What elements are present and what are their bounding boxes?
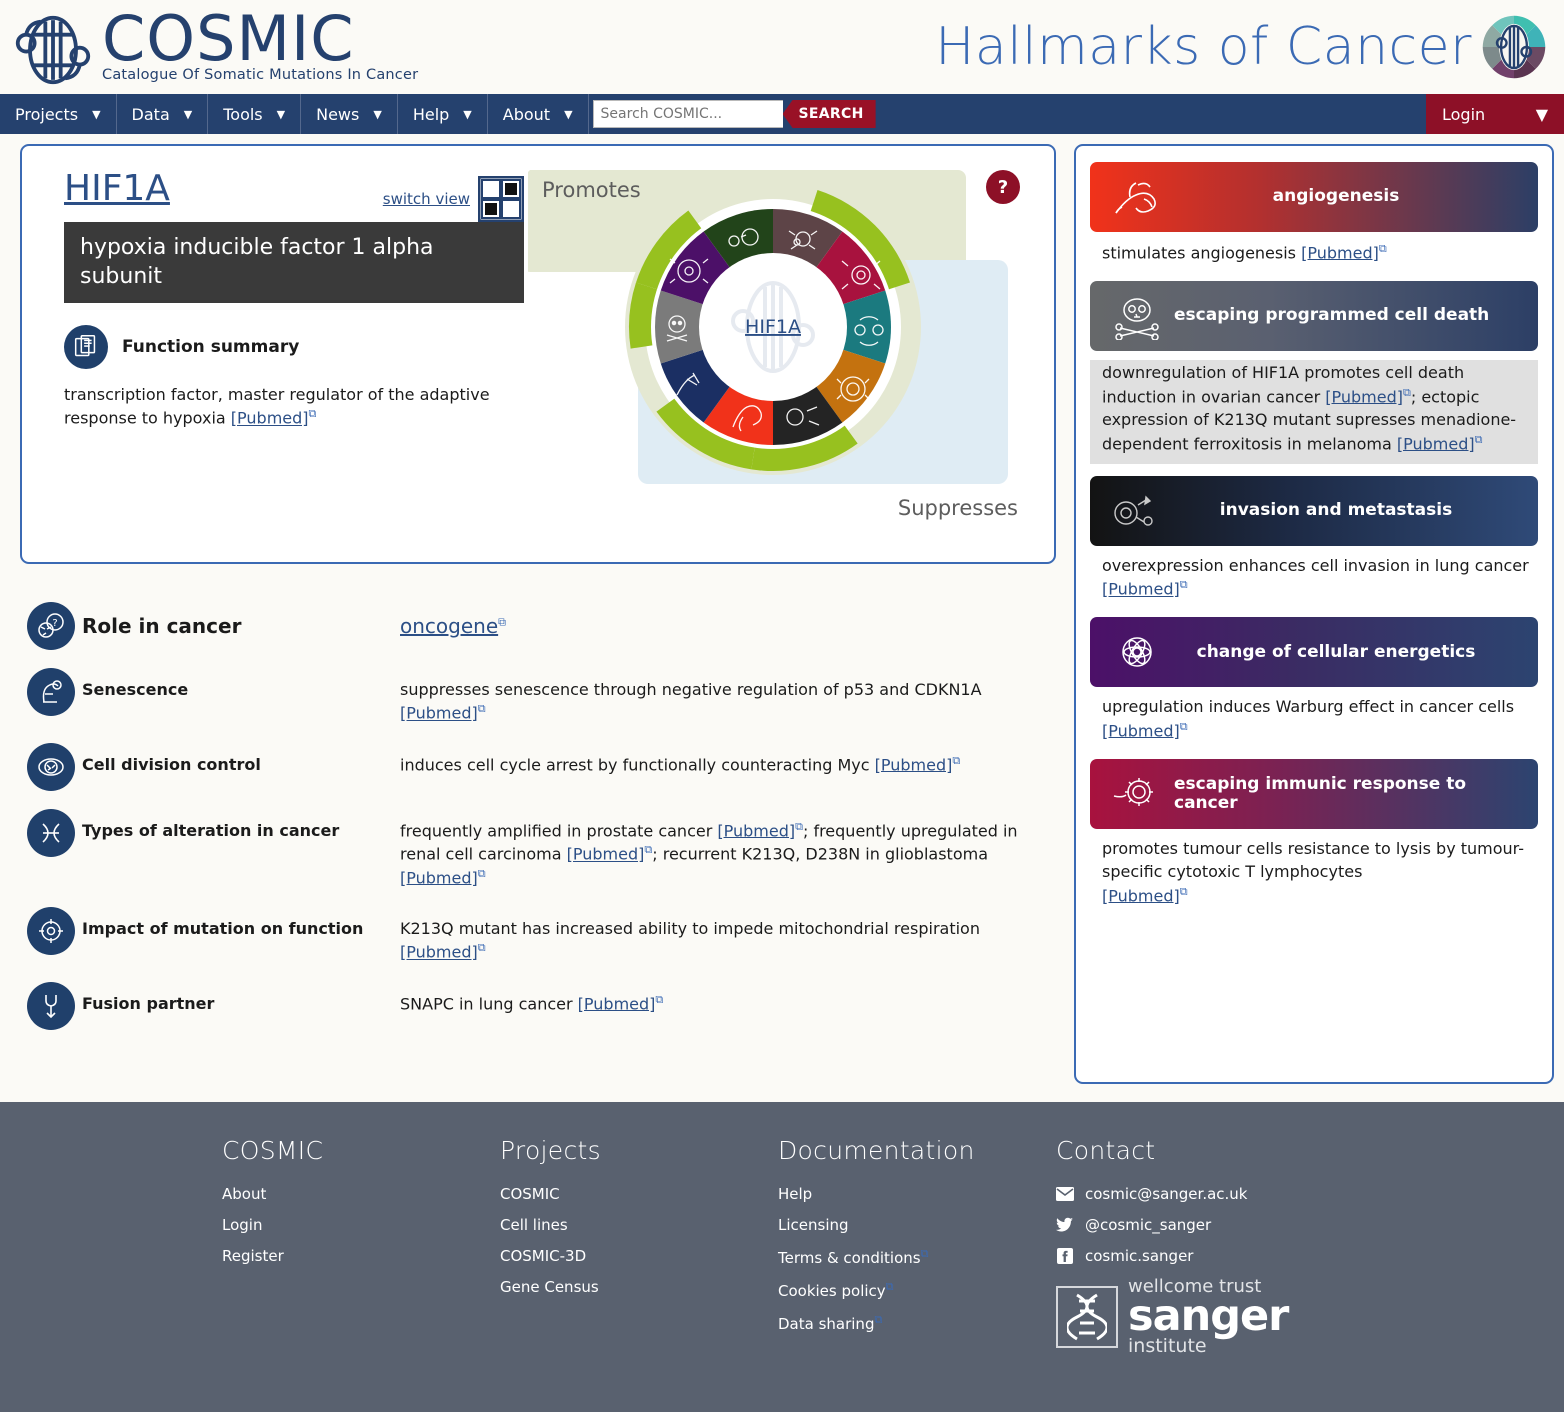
external-link-icon: ⧉ bbox=[952, 754, 960, 767]
role-value-link[interactable]: oncogene bbox=[400, 614, 498, 638]
page-body: HIF1A switch view bbox=[0, 134, 1564, 1084]
pubmed-link[interactable]: [Pubmed] bbox=[1397, 434, 1475, 453]
external-link-icon: ⧉ bbox=[1475, 433, 1483, 446]
external-link-icon: ⧉ bbox=[1180, 720, 1188, 733]
icon-cell bbox=[20, 666, 82, 716]
footer-link-register[interactable]: Register bbox=[222, 1247, 500, 1265]
brand-name: COSMIC bbox=[102, 8, 418, 70]
attribute-text: SNAPC in lung cancer bbox=[400, 994, 573, 1013]
left-column: HIF1A switch view bbox=[20, 144, 1056, 1084]
attribute-text: suppresses senescence through negative r… bbox=[400, 680, 982, 699]
contact-email-label: cosmic@sanger.ac.uk bbox=[1085, 1185, 1248, 1203]
footer-link-gene-census[interactable]: Gene Census bbox=[500, 1278, 778, 1296]
attribute-row-impact-of-mutation: Impact of mutation on function K213Q mut… bbox=[20, 905, 1056, 964]
external-link-icon: ⧉ bbox=[655, 993, 663, 1006]
external-link-icon: ⧉ bbox=[1180, 885, 1188, 898]
external-link-icon: ⧉ bbox=[921, 1247, 929, 1260]
facebook-icon bbox=[1056, 1248, 1074, 1264]
gene-info-block: HIF1A switch view bbox=[44, 164, 524, 430]
external-link-icon: ⧉ bbox=[1180, 578, 1188, 591]
footer-heading: Contact bbox=[1056, 1136, 1456, 1165]
contact-facebook-label: cosmic.sanger bbox=[1085, 1247, 1193, 1265]
wheel-segments: HIF1A bbox=[655, 209, 891, 445]
footer-link-cosmic[interactable]: COSMIC bbox=[500, 1185, 778, 1203]
icon-cell: ? bbox=[20, 600, 82, 650]
pubmed-link[interactable]: [Pubmed] bbox=[578, 994, 656, 1013]
external-link-icon: ⧉ bbox=[795, 820, 803, 833]
gene-symbol-link[interactable]: HIF1A bbox=[64, 168, 170, 209]
pubmed-link[interactable]: [Pubmed] bbox=[1102, 721, 1180, 740]
sanger-institute-logo: wellcome trust sanger institute bbox=[1056, 1278, 1456, 1356]
external-link-icon: ⧉ bbox=[886, 1280, 894, 1293]
switch-view-label[interactable]: switch view bbox=[383, 190, 470, 208]
external-link-icon: ⧉ bbox=[309, 407, 317, 420]
hallmark-name: invasion and metastasis bbox=[1174, 501, 1528, 521]
footer-heading: Projects bbox=[500, 1136, 778, 1165]
hallmark-description-escaping-programmed-cell-death: downregulation of HIF1A promotes cell de… bbox=[1090, 360, 1538, 464]
contact-twitter-label: @cosmic_sanger bbox=[1085, 1216, 1211, 1234]
wheel-center-label: HIF1A bbox=[745, 316, 801, 338]
gene-attributes: ? Role in cancer oncogene⧉ bbox=[20, 600, 1056, 1030]
icon-cell bbox=[20, 807, 82, 857]
pubmed-link[interactable]: [Pubmed] bbox=[875, 755, 953, 774]
pubmed-link[interactable]: [Pubmed] bbox=[717, 821, 795, 840]
attribute-row-senescence: Senescence suppresses senescence through… bbox=[20, 666, 1056, 725]
grid-view-icon[interactable] bbox=[478, 176, 524, 222]
attribute-text: induces cell cycle arrest by functionall… bbox=[400, 755, 870, 774]
chevron-down-icon: ▼ bbox=[92, 109, 100, 120]
external-link-icon: ⧉ bbox=[478, 702, 486, 715]
attribute-label: Fusion partner bbox=[82, 980, 400, 1013]
footer-column-cosmic: COSMIC About Login Register bbox=[222, 1136, 500, 1356]
alteration-icon bbox=[27, 809, 75, 857]
page-footer: COSMIC About Login Register Projects COS… bbox=[0, 1102, 1564, 1412]
chevron-down-icon: ▼ bbox=[564, 109, 572, 120]
chevron-down-icon: ▼ bbox=[277, 109, 285, 120]
search-area: SEARCH bbox=[593, 94, 876, 134]
impact-icon bbox=[27, 907, 75, 955]
nav-item-data[interactable]: Data ▼ bbox=[117, 94, 209, 134]
external-link-icon: ⧉ bbox=[874, 1313, 882, 1326]
pubmed-link[interactable]: [Pubmed] bbox=[231, 409, 309, 428]
right-column: angiogenesis stimulates angiogenesis [Pu… bbox=[1074, 144, 1554, 1084]
external-link-icon: ⧉ bbox=[1403, 386, 1411, 399]
hallmark-header-escaping-immunic-response[interactable]: escaping immunic response to cancer bbox=[1090, 759, 1538, 829]
icon-cell bbox=[20, 980, 82, 1030]
metastasis-icon bbox=[1100, 487, 1174, 535]
search-input[interactable] bbox=[593, 100, 783, 128]
nav-label: Data bbox=[132, 105, 170, 124]
nav-item-news[interactable]: News ▼ bbox=[301, 94, 398, 134]
nav-item-about[interactable]: About ▼ bbox=[488, 94, 589, 134]
attribute-label: Senescence bbox=[82, 666, 400, 699]
chevron-down-icon: ▼ bbox=[373, 109, 381, 120]
hallmark-text: promotes tumour cells resistance to lysi… bbox=[1102, 839, 1524, 881]
attribute-row-cell-division-control: Cell division control induces cell cycle… bbox=[20, 741, 1056, 791]
cell-division-icon bbox=[27, 743, 75, 791]
hallmark-name: angiogenesis bbox=[1174, 187, 1528, 207]
hallmark-name: escaping immunic response to cancer bbox=[1174, 775, 1528, 814]
footer-link-label: Data sharing bbox=[778, 1315, 874, 1333]
footer-link-about[interactable]: About bbox=[222, 1185, 500, 1203]
hallmark-name: escaping programmed cell death bbox=[1174, 306, 1528, 326]
footer-column-contact: Contact cosmic@sanger.ac.uk @cosmic_sang… bbox=[1056, 1136, 1456, 1356]
cosmic-logo-icon bbox=[14, 14, 92, 86]
icon-cell bbox=[20, 905, 82, 955]
footer-link-login[interactable]: Login bbox=[222, 1216, 500, 1234]
icon-cell bbox=[20, 741, 82, 791]
pubmed-link[interactable]: [Pubmed] bbox=[567, 845, 645, 864]
footer-columns: COSMIC About Login Register Projects COS… bbox=[0, 1136, 1564, 1356]
hallmark-text: upregulation induces Warburg effect in c… bbox=[1102, 697, 1514, 716]
skull-icon bbox=[1100, 292, 1174, 340]
sanger-wordmark: wellcome trust sanger institute bbox=[1128, 1278, 1288, 1356]
hallmarks-title: Hallmarks of Cancer bbox=[935, 13, 1554, 81]
pubmed-link[interactable]: [Pubmed] bbox=[1102, 580, 1180, 599]
contact-facebook[interactable]: cosmic.sanger bbox=[1056, 1247, 1456, 1265]
attribute-row-fusion-partner: Fusion partner SNAPC in lung cancer [Pub… bbox=[20, 980, 1056, 1030]
attribute-value: induces cell cycle arrest by functionall… bbox=[400, 741, 1056, 777]
contact-twitter[interactable]: @cosmic_sanger bbox=[1056, 1216, 1456, 1234]
twitter-icon bbox=[1056, 1217, 1074, 1233]
attribute-label: Impact of mutation on function bbox=[82, 905, 400, 938]
attribute-value: suppresses senescence through negative r… bbox=[400, 666, 1056, 725]
footer-column-projects: Projects COSMIC Cell lines COSMIC-3D Gen… bbox=[500, 1136, 778, 1356]
nav-label: Projects bbox=[15, 105, 78, 124]
energetics-icon bbox=[1100, 628, 1174, 676]
footer-link-cell-lines[interactable]: Cell lines bbox=[500, 1216, 778, 1234]
nav-label: Help bbox=[413, 105, 449, 124]
external-link-icon: ⧉ bbox=[644, 843, 652, 856]
external-link-icon: ⧉ bbox=[478, 867, 486, 880]
hallmark-description-change-of-cellular-energetics: upregulation induces Warburg effect in c… bbox=[1090, 696, 1538, 759]
nav-item-tools[interactable]: Tools ▼ bbox=[208, 94, 301, 134]
function-summary-title: Function summary bbox=[122, 337, 299, 357]
footer-link-label: Cookies policy bbox=[778, 1282, 886, 1300]
nav-label: News bbox=[316, 105, 359, 124]
hallmarks-wheel-diagram: ? bbox=[528, 164, 1028, 514]
attribute-label: Types of alteration in cancer bbox=[82, 807, 400, 840]
function-summary-header: Function summary bbox=[64, 325, 524, 369]
promotes-label: Promotes bbox=[542, 178, 641, 202]
hallmark-description-escaping-immunic-response: promotes tumour cells resistance to lysi… bbox=[1090, 838, 1538, 923]
suppresses-label: Suppresses bbox=[898, 496, 1018, 520]
footer-heading: Documentation bbox=[778, 1136, 1056, 1165]
hallmark-text: overexpression enhances cell invasion in… bbox=[1102, 556, 1529, 575]
cosmic-logo[interactable]: COSMIC Catalogue Of Somatic Mutations In… bbox=[14, 8, 418, 87]
hallmark-name: change of cellular energetics bbox=[1174, 643, 1528, 663]
gene-description: hypoxia inducible factor 1 alpha subunit bbox=[64, 222, 524, 303]
brand-tagline: Catalogue Of Somatic Mutations In Cancer bbox=[102, 68, 418, 83]
chevron-down-icon: ▼ bbox=[463, 109, 471, 120]
nav-label: Tools bbox=[223, 105, 262, 124]
section-title: Hallmarks of Cancer bbox=[935, 17, 1472, 77]
pubmed-link[interactable]: [Pubmed] bbox=[1102, 886, 1180, 905]
dna-helix-icon bbox=[1056, 1286, 1118, 1348]
pubmed-link[interactable]: [Pubmed] bbox=[1325, 387, 1403, 406]
attribute-value: frequently amplified in prostate cancer … bbox=[400, 807, 1056, 890]
footer-link-help[interactable]: Help bbox=[778, 1185, 1056, 1203]
senescence-icon bbox=[27, 668, 75, 716]
external-link-icon: ⧉ bbox=[1379, 242, 1387, 255]
pubmed-link[interactable]: [Pubmed] bbox=[400, 704, 478, 723]
immune-icon bbox=[1100, 770, 1174, 818]
hallmark-text: stimulates angiogenesis bbox=[1102, 243, 1296, 262]
hallmark-header-change-of-cellular-energetics[interactable]: change of cellular energetics bbox=[1090, 617, 1538, 687]
external-link-icon: ⧉ bbox=[478, 941, 486, 954]
attribute-row-types-of-alteration: Types of alteration in cancer frequently… bbox=[20, 807, 1056, 890]
footer-link-label: Terms & conditions bbox=[778, 1249, 921, 1267]
attribute-value: SNAPC in lung cancer [Pubmed]⧉ bbox=[400, 980, 1056, 1016]
footer-link-cookies[interactable]: Cookies policy⧉ bbox=[778, 1280, 1056, 1300]
attribute-label: Cell division control bbox=[82, 741, 400, 774]
fusion-partner-icon bbox=[27, 982, 75, 1030]
chevron-down-icon: ▼ bbox=[184, 109, 192, 120]
pubmed-link[interactable]: [Pubmed] bbox=[1301, 243, 1379, 262]
masthead: COSMIC Catalogue Of Somatic Mutations In… bbox=[0, 0, 1564, 94]
pubmed-link[interactable]: [Pubmed] bbox=[400, 943, 478, 962]
attribute-value: K213Q mutant has increased ability to im… bbox=[400, 905, 1056, 964]
footer-link-data-sharing[interactable]: Data sharing⧉ bbox=[778, 1313, 1056, 1333]
role-in-cancer-icon: ? bbox=[27, 602, 75, 650]
login-button[interactable]: Login ▼ bbox=[1426, 94, 1564, 134]
switch-view-control[interactable]: switch view bbox=[383, 176, 524, 222]
attribute-text: K213Q mutant has increased ability to im… bbox=[400, 919, 980, 938]
contact-email[interactable]: cosmic@sanger.ac.uk bbox=[1056, 1185, 1456, 1203]
hallmark-header-angiogenesis[interactable]: angiogenesis bbox=[1090, 162, 1538, 232]
hallmark-description-invasion-and-metastasis: overexpression enhances cell invasion in… bbox=[1090, 555, 1538, 618]
footer-heading: COSMIC bbox=[222, 1136, 500, 1165]
gene-header: HIF1A switch view bbox=[44, 164, 1034, 514]
sanger-line-2: sanger bbox=[1128, 1296, 1288, 1337]
attribute-label: Role in cancer bbox=[82, 600, 400, 638]
nav-label: About bbox=[503, 105, 550, 124]
attribute-value: oncogene⧉ bbox=[400, 600, 1056, 641]
login-label: Login bbox=[1442, 105, 1485, 124]
hallmarks-wheel-icon bbox=[1480, 13, 1548, 81]
nav-item-projects[interactable]: Projects ▼ bbox=[0, 94, 117, 134]
footer-link-terms[interactable]: Terms & conditions⧉ bbox=[778, 1247, 1056, 1267]
external-link-icon: ⧉ bbox=[498, 615, 506, 628]
main-navigation: Projects ▼ Data ▼ Tools ▼ News ▼ Help ▼ … bbox=[0, 94, 1564, 134]
footer-column-documentation: Documentation Help Licensing Terms & con… bbox=[778, 1136, 1056, 1356]
hallmark-header-invasion-and-metastasis[interactable]: invasion and metastasis bbox=[1090, 476, 1538, 546]
gene-summary-panel: HIF1A switch view bbox=[20, 144, 1056, 564]
hallmark-description-angiogenesis: stimulates angiogenesis [Pubmed]⧉ bbox=[1090, 241, 1538, 281]
nav-item-help[interactable]: Help ▼ bbox=[398, 94, 488, 134]
hallmark-header-escaping-programmed-cell-death[interactable]: escaping programmed cell death bbox=[1090, 281, 1538, 351]
footer-link-licensing[interactable]: Licensing bbox=[778, 1216, 1056, 1234]
wheel-svg: HIF1A bbox=[528, 164, 1028, 504]
attribute-row-role-in-cancer: ? Role in cancer oncogene⧉ bbox=[20, 600, 1056, 650]
angiogenesis-icon bbox=[1100, 173, 1174, 221]
function-summary-text: transcription factor, master regulator o… bbox=[64, 383, 504, 430]
pubmed-link[interactable]: [Pubmed] bbox=[400, 868, 478, 887]
document-icon bbox=[64, 325, 108, 369]
hallmarks-panel: angiogenesis stimulates angiogenesis [Pu… bbox=[1074, 144, 1554, 1084]
chevron-down-icon: ▼ bbox=[1536, 105, 1548, 124]
search-button[interactable]: SEARCH bbox=[783, 100, 876, 128]
footer-link-cosmic-3d[interactable]: COSMIC-3D bbox=[500, 1247, 778, 1265]
email-icon bbox=[1056, 1186, 1074, 1202]
